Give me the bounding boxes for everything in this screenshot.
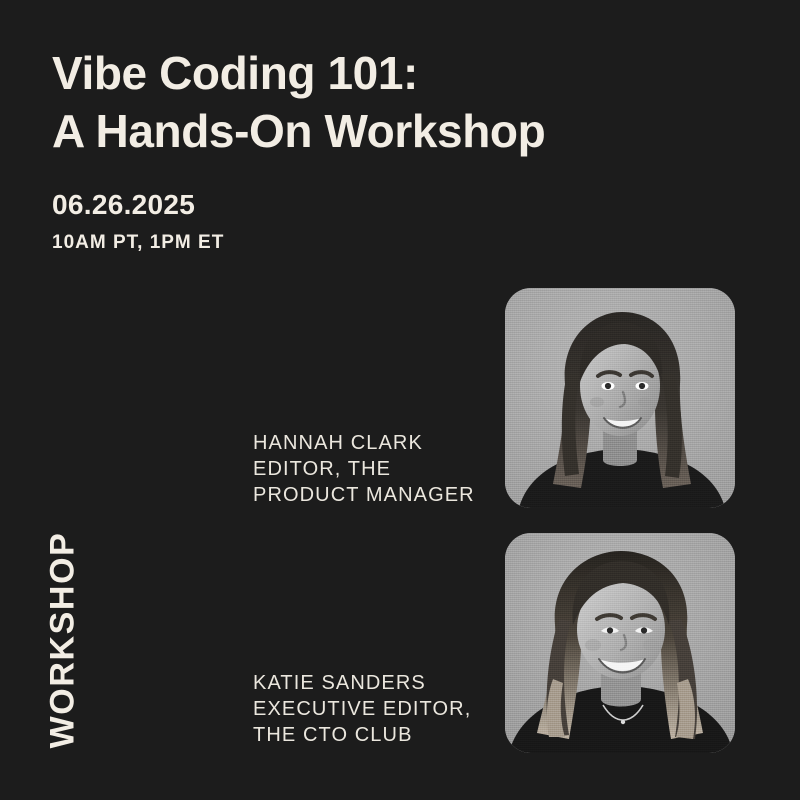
event-time: 10AM PT, 1PM ET <box>52 231 224 255</box>
event-date: 06.26.2025 <box>52 188 224 222</box>
speaker-1-name: HANNAH CLARK <box>253 430 475 456</box>
title-line-1: Vibe Coding 101: <box>52 44 752 102</box>
schedule-block: 06.26.2025 10AM PT, 1PM ET <box>52 188 224 255</box>
speaker-caption-2: KATIE SANDERS EXECUTIVE EDITOR, THE CTO … <box>253 670 471 748</box>
speaker-1-role-line-1: EDITOR, THE <box>253 456 475 482</box>
speaker-caption-1: HANNAH CLARK EDITOR, THE PRODUCT MANAGER <box>253 430 475 508</box>
category-label-workshop: WORKSHOP <box>44 532 83 749</box>
speaker-photo-2 <box>505 533 735 753</box>
speaker-1-role-line-2: PRODUCT MANAGER <box>253 482 475 508</box>
headshot-katie-sanders-illustration <box>505 533 735 753</box>
headshot-hannah-clark-illustration <box>505 288 735 508</box>
speaker-2-name: KATIE SANDERS <box>253 670 471 696</box>
page-title: Vibe Coding 101: A Hands-On Workshop <box>52 44 752 160</box>
speaker-2-role-line-1: EXECUTIVE EDITOR, <box>253 696 471 722</box>
speaker-photo-1 <box>505 288 735 508</box>
speaker-2-role-line-2: THE CTO CLUB <box>253 722 471 748</box>
title-line-2: A Hands-On Workshop <box>52 102 752 160</box>
webinar-promo-poster: Vibe Coding 101: A Hands-On Workshop 06.… <box>0 0 800 800</box>
